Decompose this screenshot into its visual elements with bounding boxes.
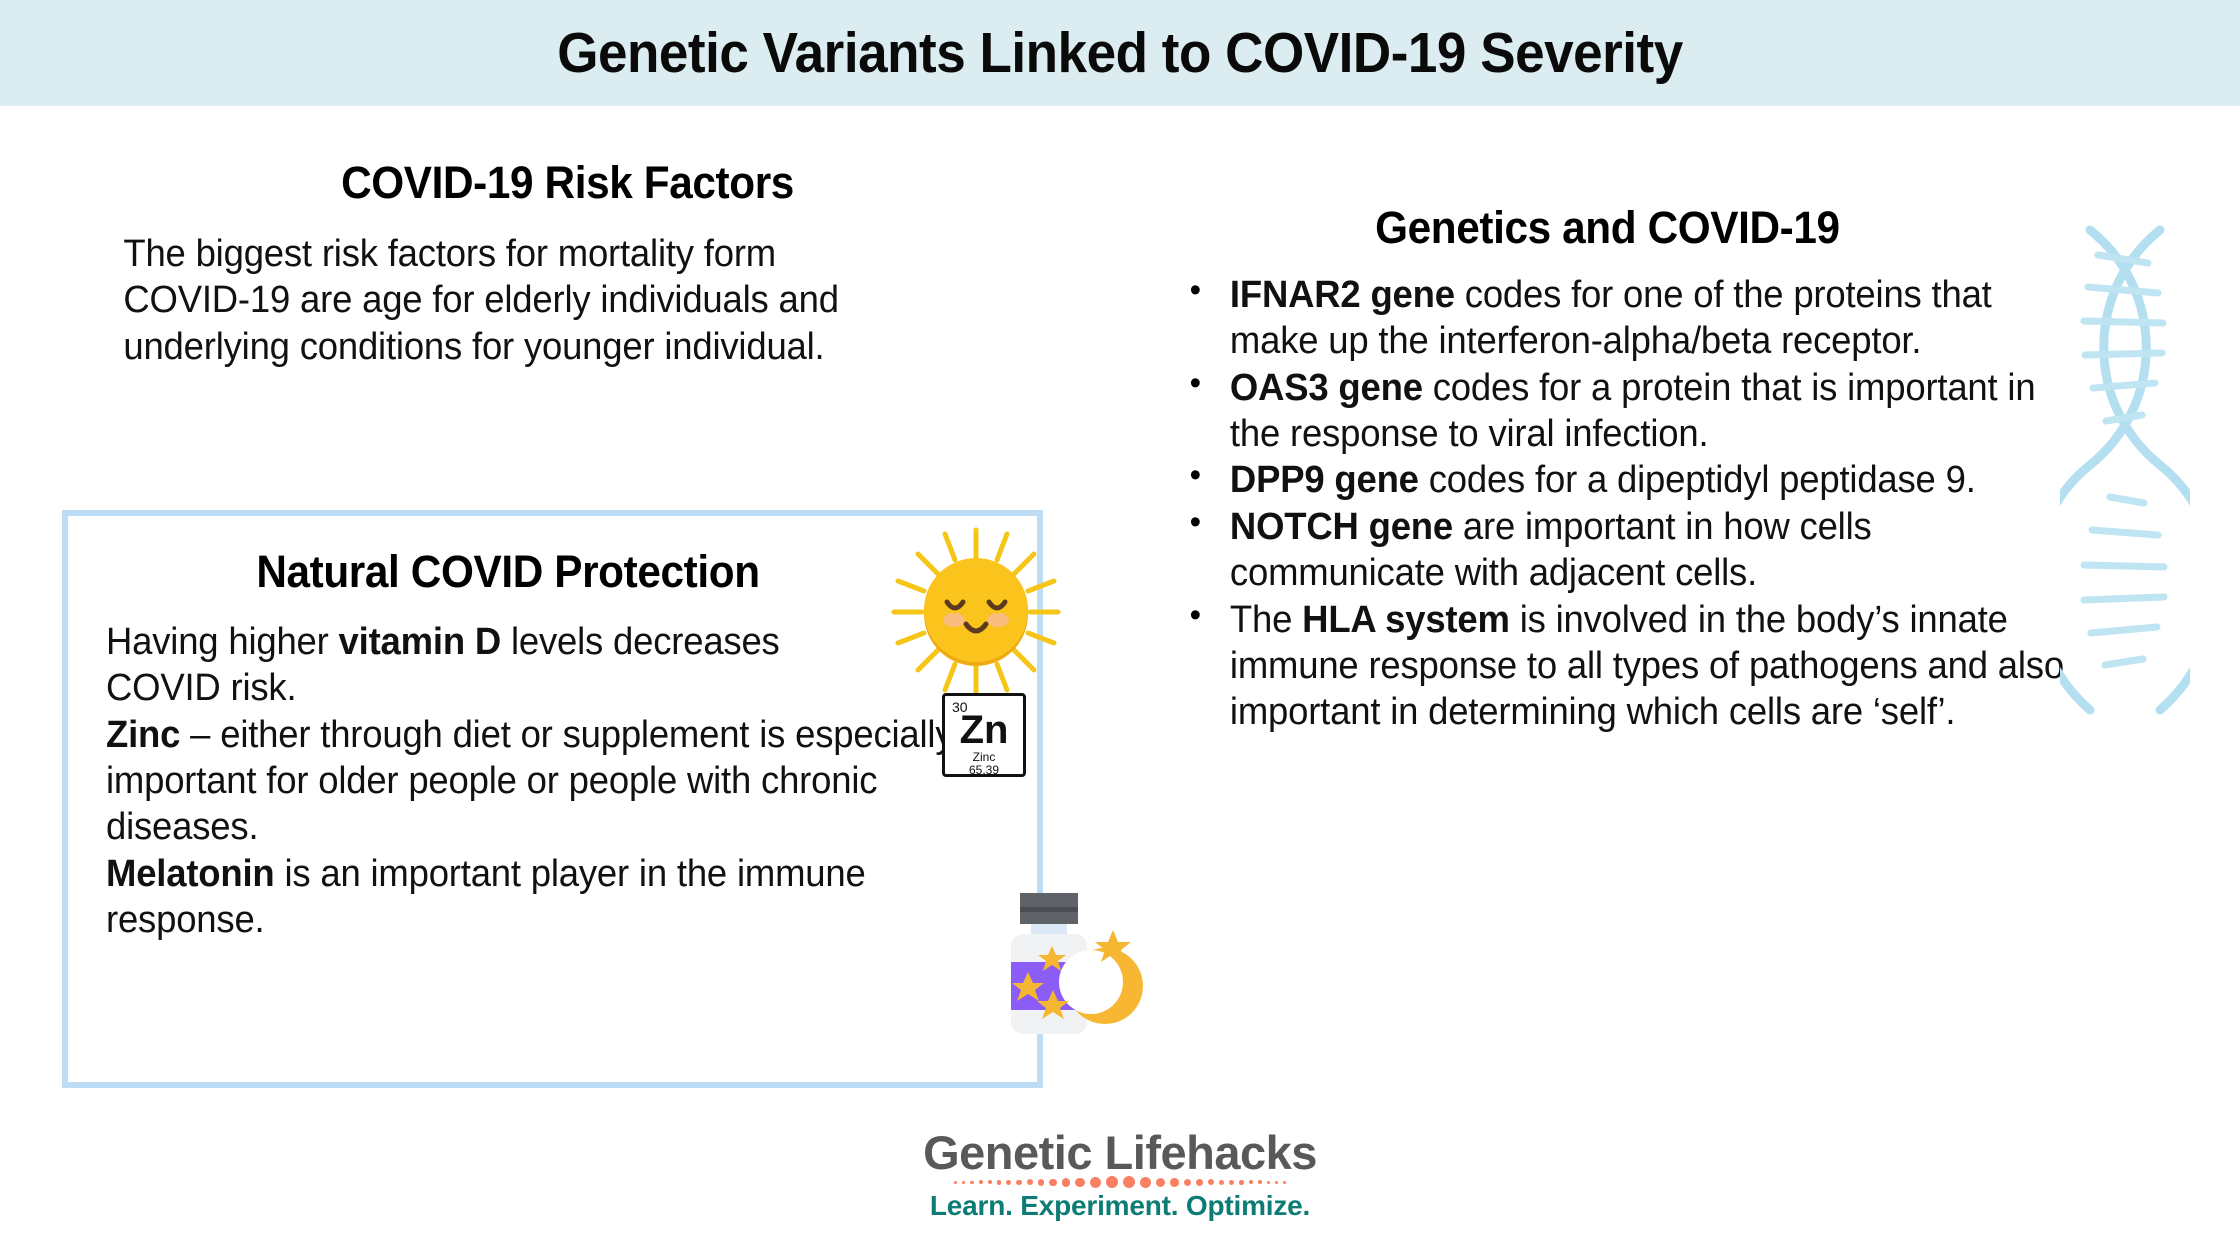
list-item: NOTCH gene are important in how cells co…: [1230, 504, 1988, 597]
list-item: OAS3 gene codes for a protein that is im…: [1230, 365, 2056, 458]
protection-line-vitamin-d: Having higher vitamin D levels decreases…: [106, 619, 864, 712]
right-column: Genetics and COVID-19 IFNAR2 gene codes …: [1180, 205, 2110, 736]
risk-factors-heading: COVID-19 Risk Factors: [90, 160, 1030, 205]
melatonin-bottle-icon: [995, 890, 1155, 1060]
vitd-bold: vitamin D: [339, 621, 501, 663]
brand-name: Genetic Lifehacks: [0, 1128, 2240, 1177]
zinc-name: Zinc: [945, 750, 1023, 764]
zinc-element-icon: 30 Zn Zinc 65.39: [942, 693, 1026, 777]
zinc-symbol: Zn: [945, 710, 1023, 750]
protection-heading: Natural COVID Protection: [94, 546, 921, 598]
vitd-pre: Having higher: [106, 621, 339, 663]
list-item: IFNAR2 gene codes for one of the protein…: [1230, 272, 2065, 365]
bullet-bold-4: HLA system: [1302, 599, 1510, 641]
list-item: The HLA system is involved in the body’s…: [1230, 597, 2094, 736]
risk-line-3: underlying conditions for younger indivi…: [123, 326, 824, 368]
genetics-heading: Genetics and COVID-19: [1208, 205, 2082, 250]
bullet-bold-0: IFNAR2 gene: [1230, 274, 1455, 316]
dna-helix-icon: [2060, 225, 2190, 715]
bullet-pre-4: The: [1230, 599, 1302, 641]
bullet-bold-1: OAS3 gene: [1230, 367, 1423, 409]
zinc-bold: Zinc: [106, 714, 180, 756]
bullet-bold-3: NOTCH gene: [1230, 506, 1453, 548]
protection-line-zinc: Zinc – either through diet or supplement…: [106, 712, 970, 851]
left-column: COVID-19 Risk Factors The biggest risk f…: [60, 160, 1060, 370]
risk-factors-paragraph: The biggest risk factors for mortality f…: [60, 231, 1020, 370]
risk-line-1: The biggest risk factors for mortality f…: [123, 233, 776, 275]
genetics-bullet-list: IFNAR2 gene codes for one of the protein…: [1180, 272, 2073, 736]
protection-line-melatonin: Melatonin is an important player in the …: [106, 851, 975, 944]
melatonin-bold: Melatonin: [106, 853, 275, 895]
risk-line-2: COVID-19 are age for elderly individuals…: [123, 279, 838, 321]
footer-logo: Genetic Lifehacks Learn. Experiment. Opt…: [0, 1128, 2240, 1222]
protection-body: Having higher vitamin D levels decreases…: [106, 619, 980, 944]
brand-tagline: Learn. Experiment. Optimize.: [0, 1190, 2240, 1222]
sun-icon: [888, 524, 1064, 700]
bullet-bold-2: DPP9 gene: [1230, 459, 1419, 501]
bullet-text-2: codes for a dipeptidyl peptidase 9.: [1419, 459, 1976, 501]
list-item: DPP9 gene codes for a dipeptidyl peptida…: [1230, 457, 2113, 503]
zinc-atomic-mass: 65.39: [945, 763, 1023, 777]
page-title: Genetic Variants Linked to COVID-19 Seve…: [78, 0, 2161, 106]
zinc-post: – either through diet or supplement is e…: [106, 714, 953, 849]
